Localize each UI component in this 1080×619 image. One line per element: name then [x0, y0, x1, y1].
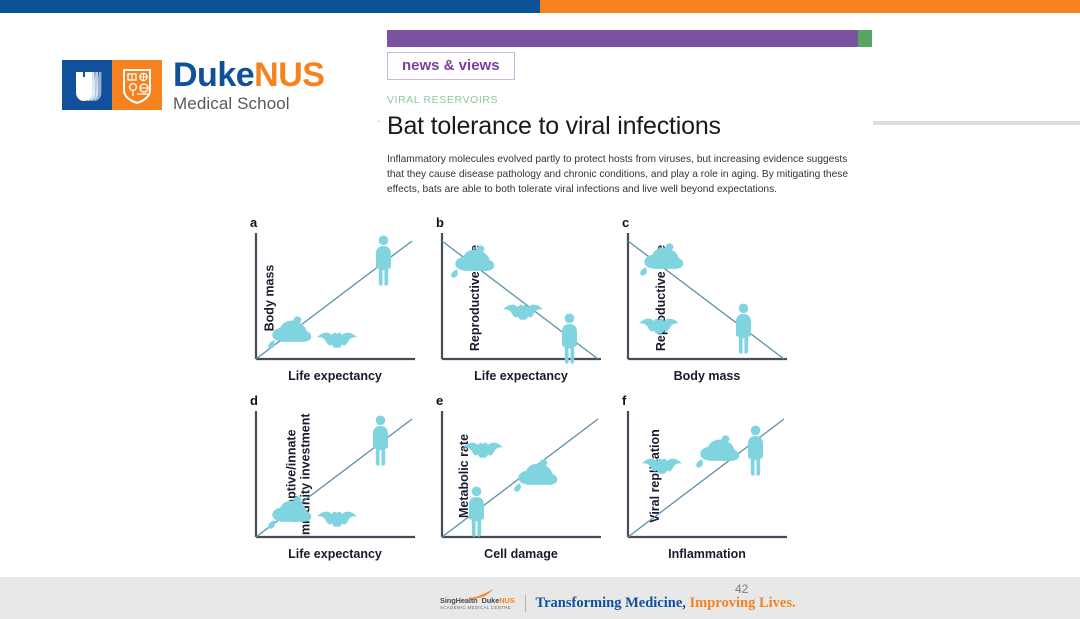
bat-silhouette-icon: [311, 324, 363, 356]
article-headline: Bat tolerance to viral infections: [387, 112, 872, 141]
article-kicker: VIRAL RESERVOIRS: [387, 94, 872, 106]
logo-marks: [62, 60, 162, 110]
duke-shield-icon: [62, 60, 112, 110]
x-axis-label-a: Life expectancy: [252, 369, 418, 383]
plot-area-a: [252, 231, 418, 365]
panel-letter-c: c: [622, 215, 629, 230]
human-silhouette-icon: [742, 421, 769, 484]
logo-subtitle: Medical School: [173, 95, 324, 112]
slide-canvas: DukeNUS Medical School news & views VIRA…: [0, 13, 1080, 606]
top-bar-blue-segment: [0, 0, 540, 13]
plot-area-b: [438, 231, 604, 365]
top-bar-orange-segment: [540, 0, 1080, 13]
mouse-silhouette-icon: [267, 493, 313, 538]
mouse-silhouette-icon: [695, 432, 741, 477]
x-axis-label-c: Body mass: [624, 369, 790, 383]
panel-letter-b: b: [436, 215, 444, 230]
tagline-orange-text: Improving Lives.: [690, 595, 796, 611]
human-silhouette-icon: [370, 231, 397, 294]
mouse-silhouette-icon: [513, 456, 559, 501]
chart-panel-d: dAdaptive/innate immunity investmentLife…: [236, 391, 422, 569]
journal-accent-green: [858, 30, 872, 47]
article-standfirst: Inflammatory molecules evolved partly to…: [387, 152, 865, 197]
journal-article-header: news & views VIRAL RESERVOIRS Bat tolera…: [387, 30, 872, 222]
figure-panel: aBody massLife expectancybReproductive r…: [0, 195, 1080, 577]
swoosh-icon: [468, 589, 494, 599]
academic-medical-centre-text: ACADEMIC MEDICAL CENTRE: [440, 606, 515, 610]
figure-grid: aBody massLife expectancybReproductive r…: [236, 213, 794, 569]
panel-letter-e: e: [436, 393, 443, 408]
plot-area-d: [252, 409, 418, 543]
human-silhouette-icon: [730, 299, 757, 362]
human-silhouette-icon: [367, 411, 394, 474]
x-axis-label-d: Life expectancy: [252, 547, 418, 561]
panel-letter-a: a: [250, 215, 257, 230]
news-and-views-tag: news & views: [387, 52, 515, 80]
chart-panel-f: fViral replicationInflammation: [608, 391, 794, 569]
plot-area-e: [438, 409, 604, 543]
plot-area-c: [624, 231, 790, 365]
mouse-silhouette-icon: [639, 240, 685, 285]
x-axis-label-e: Cell damage: [438, 547, 604, 561]
plot-area-f: [624, 409, 790, 543]
nus-crest-icon: [112, 60, 162, 110]
human-silhouette-icon: [556, 309, 583, 372]
top-brand-bar: [0, 0, 1080, 13]
bat-silhouette-icon: [457, 434, 509, 466]
footer-nus-text: NUS: [499, 596, 514, 605]
duke-nus-logo: DukeNUS Medical School: [62, 58, 324, 112]
right-edge-divider: [873, 121, 1080, 125]
slide-number: 42: [735, 582, 748, 596]
logo-nus-text: NUS: [254, 56, 324, 94]
chart-panel-b: bReproductive rateLife expectancy: [422, 213, 608, 391]
paragraph-tick-mark: ·: [377, 116, 380, 127]
journal-accent-purple: [387, 30, 858, 47]
mouse-silhouette-icon: [450, 242, 496, 287]
bat-silhouette-icon: [633, 310, 685, 342]
bat-silhouette-icon: [636, 450, 688, 482]
tagline-blue-text: Transforming Medicine,: [536, 595, 686, 611]
panel-letter-d: d: [250, 393, 258, 408]
logo-wordmark: DukeNUS Medical School: [173, 58, 324, 112]
x-axis-label-f: Inflammation: [624, 547, 790, 561]
chart-panel-a: aBody massLife expectancy: [236, 213, 422, 391]
chart-panel-c: cReproductive rateBody mass: [608, 213, 794, 391]
x-axis-label-b: Life expectancy: [438, 369, 604, 383]
singhealth-dukenus-logo: SingHealth DukeNUS ACADEMIC MEDICAL CENT…: [440, 597, 515, 610]
bat-silhouette-icon: [497, 296, 549, 328]
human-silhouette-icon: [463, 482, 490, 545]
mouse-silhouette-icon: [267, 313, 313, 358]
panel-letter-f: f: [622, 393, 626, 408]
chart-panel-e: eMetabolic rateCell damage: [422, 391, 608, 569]
logo-word-row: DukeNUS: [173, 58, 324, 92]
footer-divider: [525, 595, 526, 612]
footer-tagline: Transforming Medicine, Improving Lives.: [536, 595, 796, 612]
journal-accent-bar: [387, 30, 872, 47]
bat-silhouette-icon: [311, 503, 363, 535]
footer-content: SingHealth DukeNUS ACADEMIC MEDICAL CENT…: [440, 595, 796, 612]
logo-duke-text: Duke: [173, 56, 254, 94]
